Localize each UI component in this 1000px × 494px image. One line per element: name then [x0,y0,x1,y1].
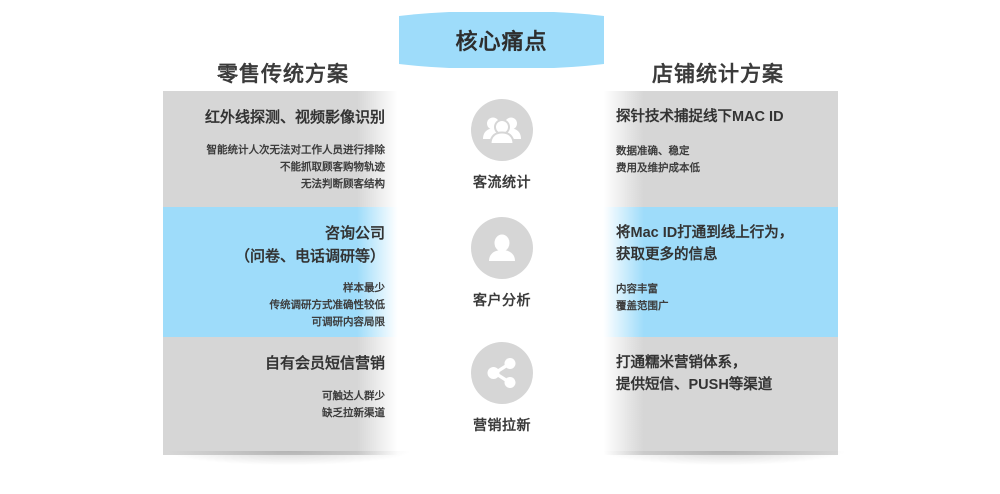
left-cell-2[interactable]: 自有会员短信营销 可触达人群少缺乏拉新渠道 [163,337,403,455]
right-cell-0[interactable]: 探针技术捕捉线下MAC ID 数据准确、稳定费用及维护成本低 [598,91,838,207]
share-nodes-icon [471,342,533,404]
center-capability-column: 客流统计 客户分析 营销拉新 [440,91,564,455]
right-solution-panel: 探针技术捕捉线下MAC ID 数据准确、稳定费用及维护成本低 将Mac ID打通… [598,91,838,455]
right-cell-1[interactable]: 将Mac ID打通到线上行为，获取更多的信息 内容丰富覆盖范围广 [598,207,838,337]
capability-item-2[interactable]: 营销拉新 [440,342,564,435]
left-cell-2-title: 自有会员短信营销 [181,353,385,376]
left-cell-2-subtext: 可触达人群少缺乏拉新渠道 [181,388,385,422]
right-cell-0-title: 探针技术捕捉线下MAC ID [616,107,820,129]
left-cell-0-title: 红外线探测、视频影像识别 [181,107,385,130]
left-cell-0[interactable]: 红外线探测、视频影像识别 智能统计人次无法对工作人员进行排除不能抓取顾客购物轨迹… [163,91,403,207]
right-cell-1-title: 将Mac ID打通到线上行为，获取更多的信息 [616,223,820,267]
capability-label-2: 营销拉新 [440,415,564,435]
core-painpoint-banner: 核心痛点 [399,12,604,68]
capability-label-1: 客户分析 [440,290,564,310]
left-column-heading: 零售传统方案 [153,58,413,88]
left-solution-panel: 红外线探测、视频影像识别 智能统计人次无法对工作人员进行排除不能抓取顾客购物轨迹… [163,91,403,455]
single-person-icon [471,217,533,279]
left-cell-1-subtext: 样本最少传统调研方式准确性较低可调研内容局限 [181,280,385,331]
capability-label-0: 客流统计 [440,172,564,192]
left-cell-1[interactable]: 咨询公司（问卷、电话调研等） 样本最少传统调研方式准确性较低可调研内容局限 [163,207,403,337]
right-column-heading: 店铺统计方案 [588,58,848,88]
capability-item-0[interactable]: 客流统计 [440,99,564,192]
right-cell-2-title: 打通糯米营销体系，提供短信、PUSH等渠道 [616,353,820,397]
right-cell-2[interactable]: 打通糯米营销体系，提供短信、PUSH等渠道 [598,337,838,455]
banner-title: 核心痛点 [399,12,604,68]
right-cell-0-subtext: 数据准确、稳定费用及维护成本低 [616,143,820,177]
capability-item-1[interactable]: 客户分析 [440,217,564,310]
left-cell-0-subtext: 智能统计人次无法对工作人员进行排除不能抓取顾客购物轨迹无法判断顾客结构 [181,142,385,193]
left-cell-1-title: 咨询公司（问卷、电话调研等） [181,223,385,268]
right-cell-1-subtext: 内容丰富覆盖范围广 [616,281,820,315]
people-group-icon [471,99,533,161]
